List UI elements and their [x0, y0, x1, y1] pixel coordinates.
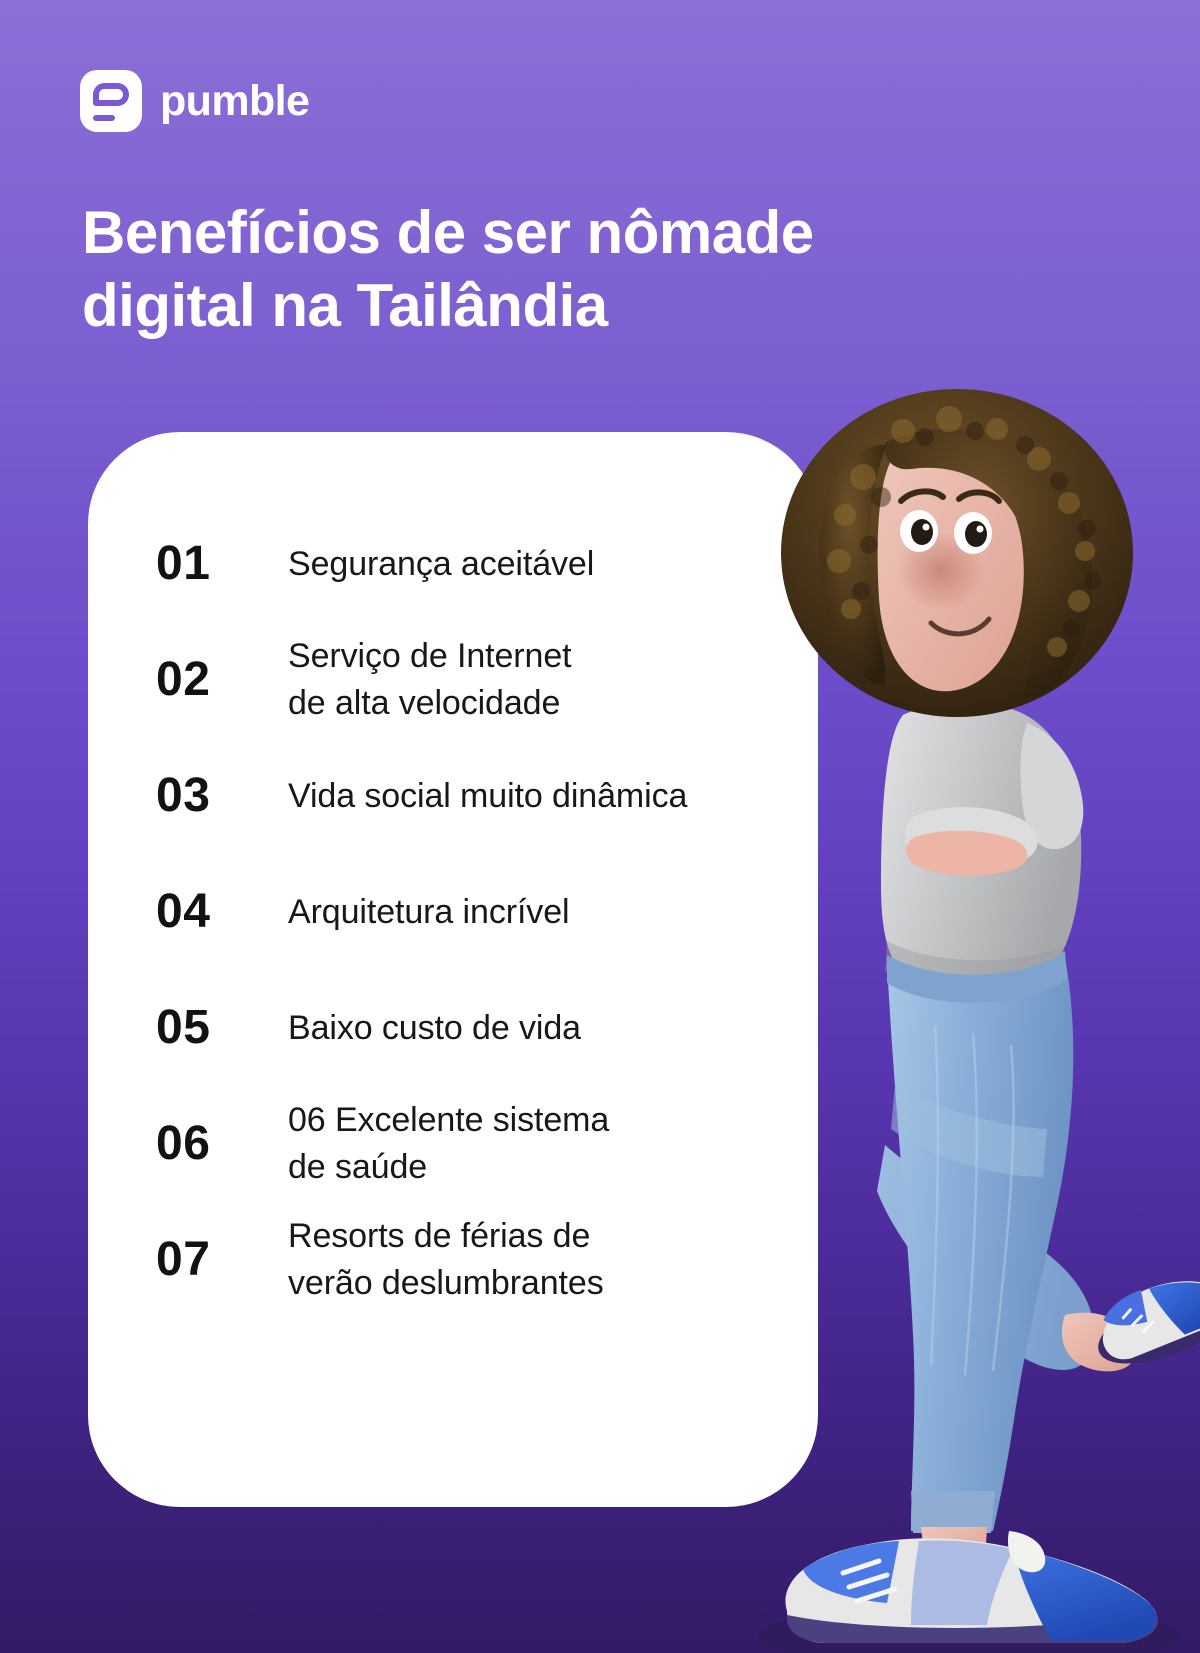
- brand-name: pumble: [160, 80, 309, 123]
- list-item: 06 06 Excelente sistema de saúde: [88, 1086, 818, 1202]
- benefits-list: 01 Segurança aceitável 02 Serviço de Int…: [88, 506, 818, 1318]
- list-item-number: 07: [156, 1236, 288, 1284]
- list-item: 04 Arquitetura incrível: [88, 854, 818, 970]
- jeans: [887, 951, 1073, 1533]
- list-item: 07 Resorts de férias de verão deslumbran…: [88, 1202, 818, 1318]
- benefits-card: 01 Segurança aceitável 02 Serviço de Int…: [88, 432, 818, 1507]
- list-item: 05 Baixo custo de vida: [88, 970, 818, 1086]
- raised-shoe: [1083, 1257, 1200, 1379]
- brand-logo[interactable]: pumble: [80, 70, 309, 132]
- list-item-number: 01: [156, 540, 288, 588]
- pumble-chat-bubble-icon: [80, 70, 142, 132]
- list-item-number: 03: [156, 772, 288, 820]
- list-item-number: 02: [156, 656, 288, 704]
- list-item-label: Resorts de férias de verão deslumbrantes: [288, 1213, 604, 1307]
- poster-canvas: pumble Benefícios de ser nômade digital …: [0, 0, 1200, 1653]
- head: [781, 389, 1133, 717]
- list-item-label: Segurança aceitável: [288, 541, 594, 588]
- list-item-label: 06 Excelente sistema de saúde: [288, 1097, 609, 1191]
- page-title: Benefícios de ser nômade digital na Tail…: [82, 196, 982, 342]
- list-item: 03 Vida social muito dinâmica: [88, 738, 818, 854]
- standing-shoe: [759, 1531, 1179, 1653]
- list-item-label: Serviço de Internet de alta velocidade: [288, 633, 571, 727]
- bubble-dash-shape: [93, 115, 115, 121]
- tshirt: [881, 702, 1083, 992]
- list-item-label: Baixo custo de vida: [288, 1005, 581, 1052]
- list-item-number: 05: [156, 1004, 288, 1052]
- list-item-number: 06: [156, 1120, 288, 1168]
- list-item-label: Arquitetura incrível: [288, 889, 569, 936]
- list-item: 02 Serviço de Internet de alta velocidad…: [88, 622, 818, 738]
- list-item: 01 Segurança aceitável: [88, 506, 818, 622]
- list-item-label: Vida social muito dinâmica: [288, 773, 687, 820]
- raised-leg-group: [877, 1145, 1136, 1371]
- bubble-shape: [93, 83, 129, 106]
- list-item-number: 04: [156, 888, 288, 936]
